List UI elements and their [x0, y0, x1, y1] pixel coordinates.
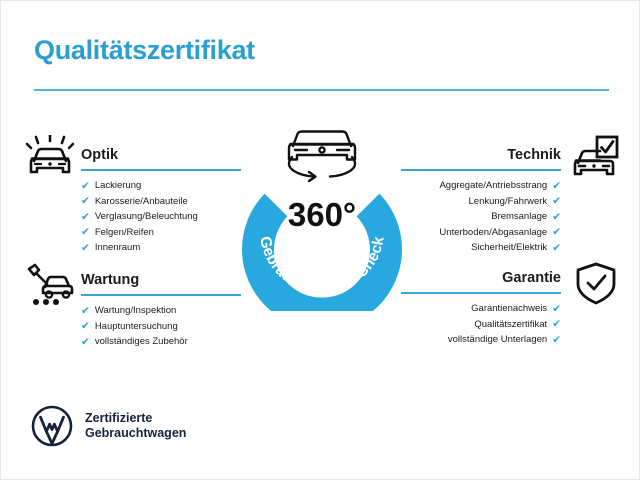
page-title: Qualitätszertifikat [34, 35, 255, 66]
section-technik-list: Aggregate/Antriebsstrang✔ Lenkung/Fahrwe… [401, 178, 561, 256]
list-item: Sicherheit/Elektrik✔ [401, 240, 561, 256]
list-item: Qualitätszertifikat✔ [401, 317, 561, 333]
list-item: ✔Hauptuntersuchung [81, 319, 241, 335]
list-item: Bremsanlage✔ [401, 209, 561, 225]
list-item-label: Sicherheit/Elektrik [471, 240, 547, 256]
section-optik-header: Optik [81, 146, 241, 170]
list-item: vollständige Unterlagen✔ [401, 332, 561, 348]
check-icon: ✔ [552, 212, 561, 223]
list-item-label: Wartung/Inspektion [95, 303, 177, 319]
section-wartung: Wartung ✔Wartung/Inspektion ✔Hauptunters… [81, 271, 241, 350]
car-rotation-icon [289, 132, 355, 182]
check-icon: ✔ [552, 227, 561, 238]
section-optik-list: ✔Lackierung ✔Karosserie/Anbauteile ✔Verg… [81, 178, 241, 256]
list-item-label: vollständiges Zubehör [95, 334, 188, 350]
brand-line-2: Gebrauchtwagen [85, 426, 186, 442]
check-icon: ✔ [81, 243, 90, 254]
section-optik-divider [81, 169, 241, 171]
car-wrench-icon [25, 263, 75, 314]
list-item-label: Qualitätszertifikat [474, 317, 547, 333]
list-item-label: Innenraum [95, 240, 140, 256]
brand-text: Zertifizierte Gebrauchtwagen [85, 411, 186, 442]
section-wartung-list: ✔Wartung/Inspektion ✔Hauptuntersuchung ✔… [81, 303, 241, 350]
section-garantie: Garantie Garantienachweis✔ Qualitätszert… [401, 269, 561, 348]
section-technik-divider [401, 169, 561, 171]
list-item: ✔Felgen/Reifen [81, 225, 241, 241]
list-item-label: Aggregate/Antriebsstrang [439, 178, 547, 194]
check-icon: ✔ [81, 227, 90, 238]
list-item: Unterboden/Abgasanlage✔ [401, 225, 561, 241]
check-icon: ✔ [81, 181, 90, 192]
list-item-label: Lackierung [95, 178, 141, 194]
section-optik-title: Optik [81, 146, 241, 164]
brand-line-1: Zertifizierte [85, 411, 186, 427]
check-icon: ✔ [81, 337, 90, 348]
list-item-label: Lenkung/Fahrwerk [469, 194, 548, 210]
list-item: ✔Karosserie/Anbauteile [81, 194, 241, 210]
list-item: Aggregate/Antriebsstrang✔ [401, 178, 561, 194]
section-wartung-header: Wartung [81, 271, 241, 295]
car-shine-icon [25, 135, 75, 186]
check-icon: ✔ [552, 335, 561, 346]
list-item: ✔Verglasung/Beleuchtung [81, 209, 241, 225]
certificate-page: Qualitätszertifikat [0, 0, 640, 480]
section-garantie-list: Garantienachweis✔ Qualitätszertifikat✔ v… [401, 301, 561, 348]
gebrauchtwagen-check-badge: Gebrauchtwagen-Check 360° [238, 116, 406, 311]
section-technik-header: Technik [401, 146, 561, 170]
list-item: ✔Innenraum [81, 240, 241, 256]
section-technik: Technik Aggregate/Antriebsstrang✔ Lenkun… [401, 146, 561, 256]
section-optik: Optik ✔Lackierung ✔Karosserie/Anbauteile… [81, 146, 241, 256]
shield-check-icon [573, 261, 619, 312]
check-icon: ✔ [552, 304, 561, 315]
check-icon: ✔ [81, 321, 90, 332]
section-wartung-divider [81, 294, 241, 296]
title-divider [34, 89, 609, 91]
section-garantie-header: Garantie [401, 269, 561, 293]
list-item-label: Bremsanlage [491, 209, 547, 225]
list-item-label: vollständige Unterlagen [448, 332, 547, 348]
section-garantie-divider [401, 292, 561, 294]
list-item: ✔vollständiges Zubehör [81, 334, 241, 350]
list-item: ✔Wartung/Inspektion [81, 303, 241, 319]
check-icon: ✔ [552, 196, 561, 207]
brand-lockup: Zertifizierte Gebrauchtwagen [31, 405, 186, 447]
list-item: ✔Lackierung [81, 178, 241, 194]
vw-logo-icon [31, 405, 73, 447]
check-icon: ✔ [552, 319, 561, 330]
section-technik-title: Technik [401, 146, 561, 164]
check-icon: ✔ [552, 181, 561, 192]
list-item: Garantienachweis✔ [401, 301, 561, 317]
check-icon: ✔ [81, 306, 90, 317]
car-checkbox-icon [569, 135, 619, 186]
check-icon: ✔ [552, 243, 561, 254]
list-item-label: Felgen/Reifen [95, 225, 154, 241]
check-icon: ✔ [81, 212, 90, 223]
list-item-label: Verglasung/Beleuchtung [95, 209, 198, 225]
list-item-label: Hauptuntersuchung [95, 319, 178, 335]
check-icon: ✔ [81, 196, 90, 207]
list-item-label: Karosserie/Anbauteile [95, 194, 188, 210]
section-wartung-title: Wartung [81, 271, 241, 289]
section-garantie-title: Garantie [401, 269, 561, 287]
badge-center-label: 360° [288, 196, 356, 233]
list-item: Lenkung/Fahrwerk✔ [401, 194, 561, 210]
list-item-label: Unterboden/Abgasanlage [439, 225, 547, 241]
list-item-label: Garantienachweis [471, 301, 547, 317]
